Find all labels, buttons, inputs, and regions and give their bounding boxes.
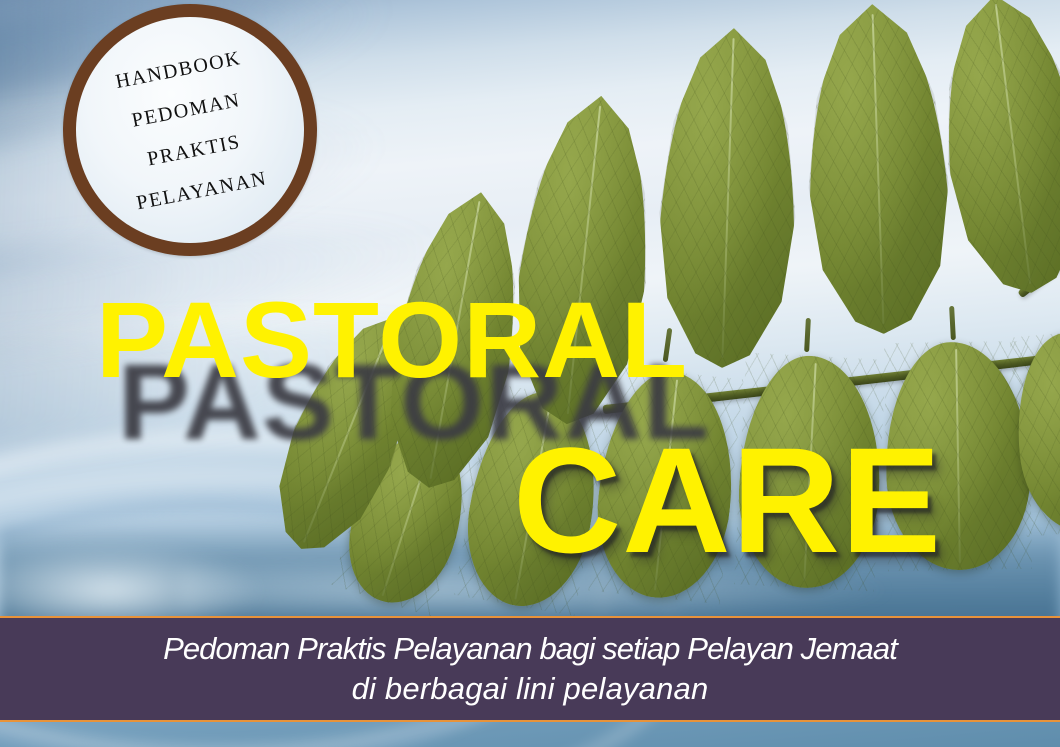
subtitle-banner: Pedoman Praktis Pelayanan bagi setiap Pe… xyxy=(0,616,1060,722)
subtitle-line-1: Pedoman Praktis Pelayanan bagi setiap Pe… xyxy=(163,629,897,669)
seal-line-pedoman: PEDOMAN xyxy=(130,90,242,131)
handbook-seal: HANDBOOK PEDOMAN PRAKTIS PELAYANAN xyxy=(63,4,317,256)
handbook-seal-text: HANDBOOK PEDOMAN PRAKTIS PELAYANAN xyxy=(63,4,317,256)
seal-line-handbook: HANDBOOK xyxy=(114,48,243,92)
subtitle-line-2: di berbagai lini pelayanan xyxy=(352,669,709,709)
seal-line-praktis: PRAKTIS xyxy=(146,131,243,169)
book-cover-poster: PASTORAL PASTORAL CARE HANDBOOK PEDOMAN … xyxy=(0,0,1060,747)
title-line2: CARE xyxy=(0,425,1060,575)
title-line1: PASTORAL xyxy=(96,286,688,394)
seal-line-pelayanan: PELAYANAN xyxy=(135,168,269,213)
